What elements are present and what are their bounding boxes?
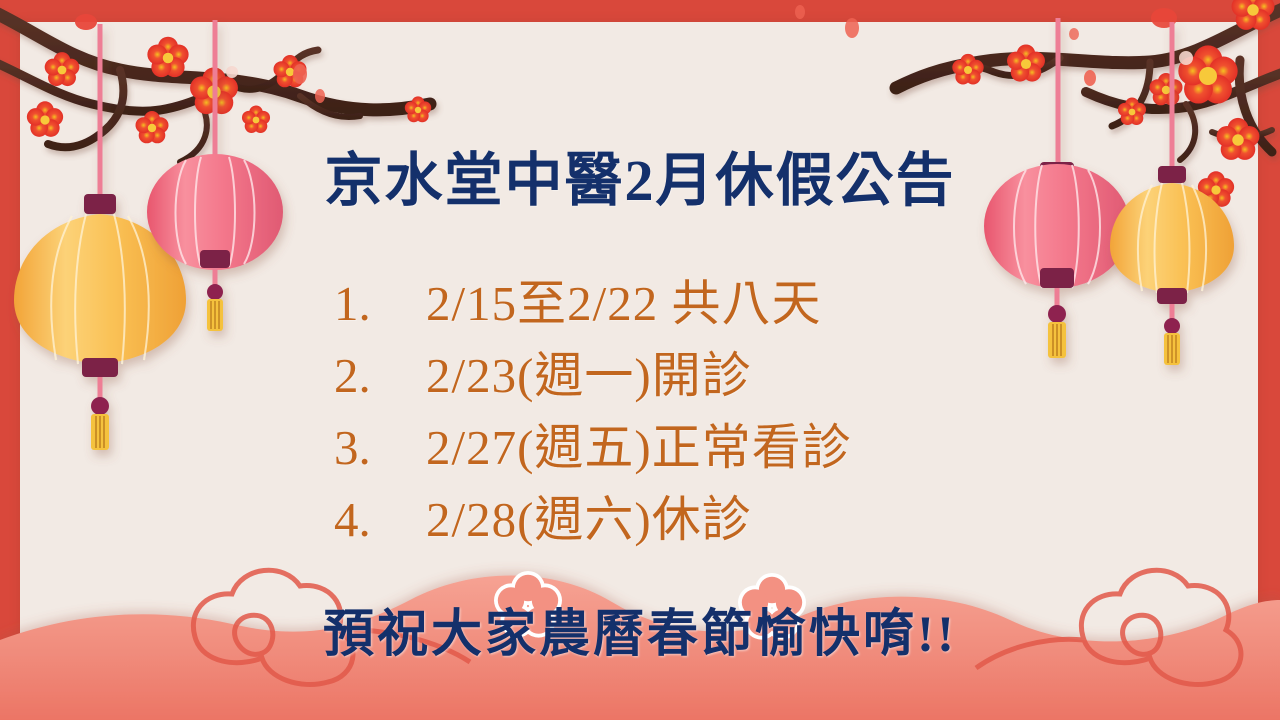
list-item-number: 2. bbox=[334, 340, 426, 412]
list-item-text: 2/28(週六)休診 bbox=[426, 484, 752, 556]
list-item: 3. 2/27(週五)正常看診 bbox=[334, 412, 1194, 484]
greeting-text: 預祝大家農曆春節愉快唷!! bbox=[0, 592, 1280, 666]
list-item: 2. 2/23(週一)開診 bbox=[334, 340, 1194, 412]
list-item-number: 3. bbox=[334, 412, 426, 484]
poster-canvas: 京水堂中醫2月休假公告 1. 2/15至2/22 共八天 2. 2/23(週一)… bbox=[0, 0, 1280, 720]
list-item-text: 2/27(週五)正常看診 bbox=[426, 412, 852, 484]
list-item-number: 1. bbox=[334, 268, 426, 340]
holiday-notice-list: 1. 2/15至2/22 共八天 2. 2/23(週一)開診 3. 2/27(週… bbox=[334, 268, 1194, 556]
list-item: 4. 2/28(週六)休診 bbox=[334, 484, 1194, 556]
list-item-number: 4. bbox=[334, 484, 426, 556]
list-item: 1. 2/15至2/22 共八天 bbox=[334, 268, 1194, 340]
list-item-text: 2/23(週一)開診 bbox=[426, 340, 752, 412]
list-item-text: 2/15至2/22 共八天 bbox=[426, 268, 821, 340]
page-title: 京水堂中醫2月休假公告 bbox=[0, 133, 1280, 217]
